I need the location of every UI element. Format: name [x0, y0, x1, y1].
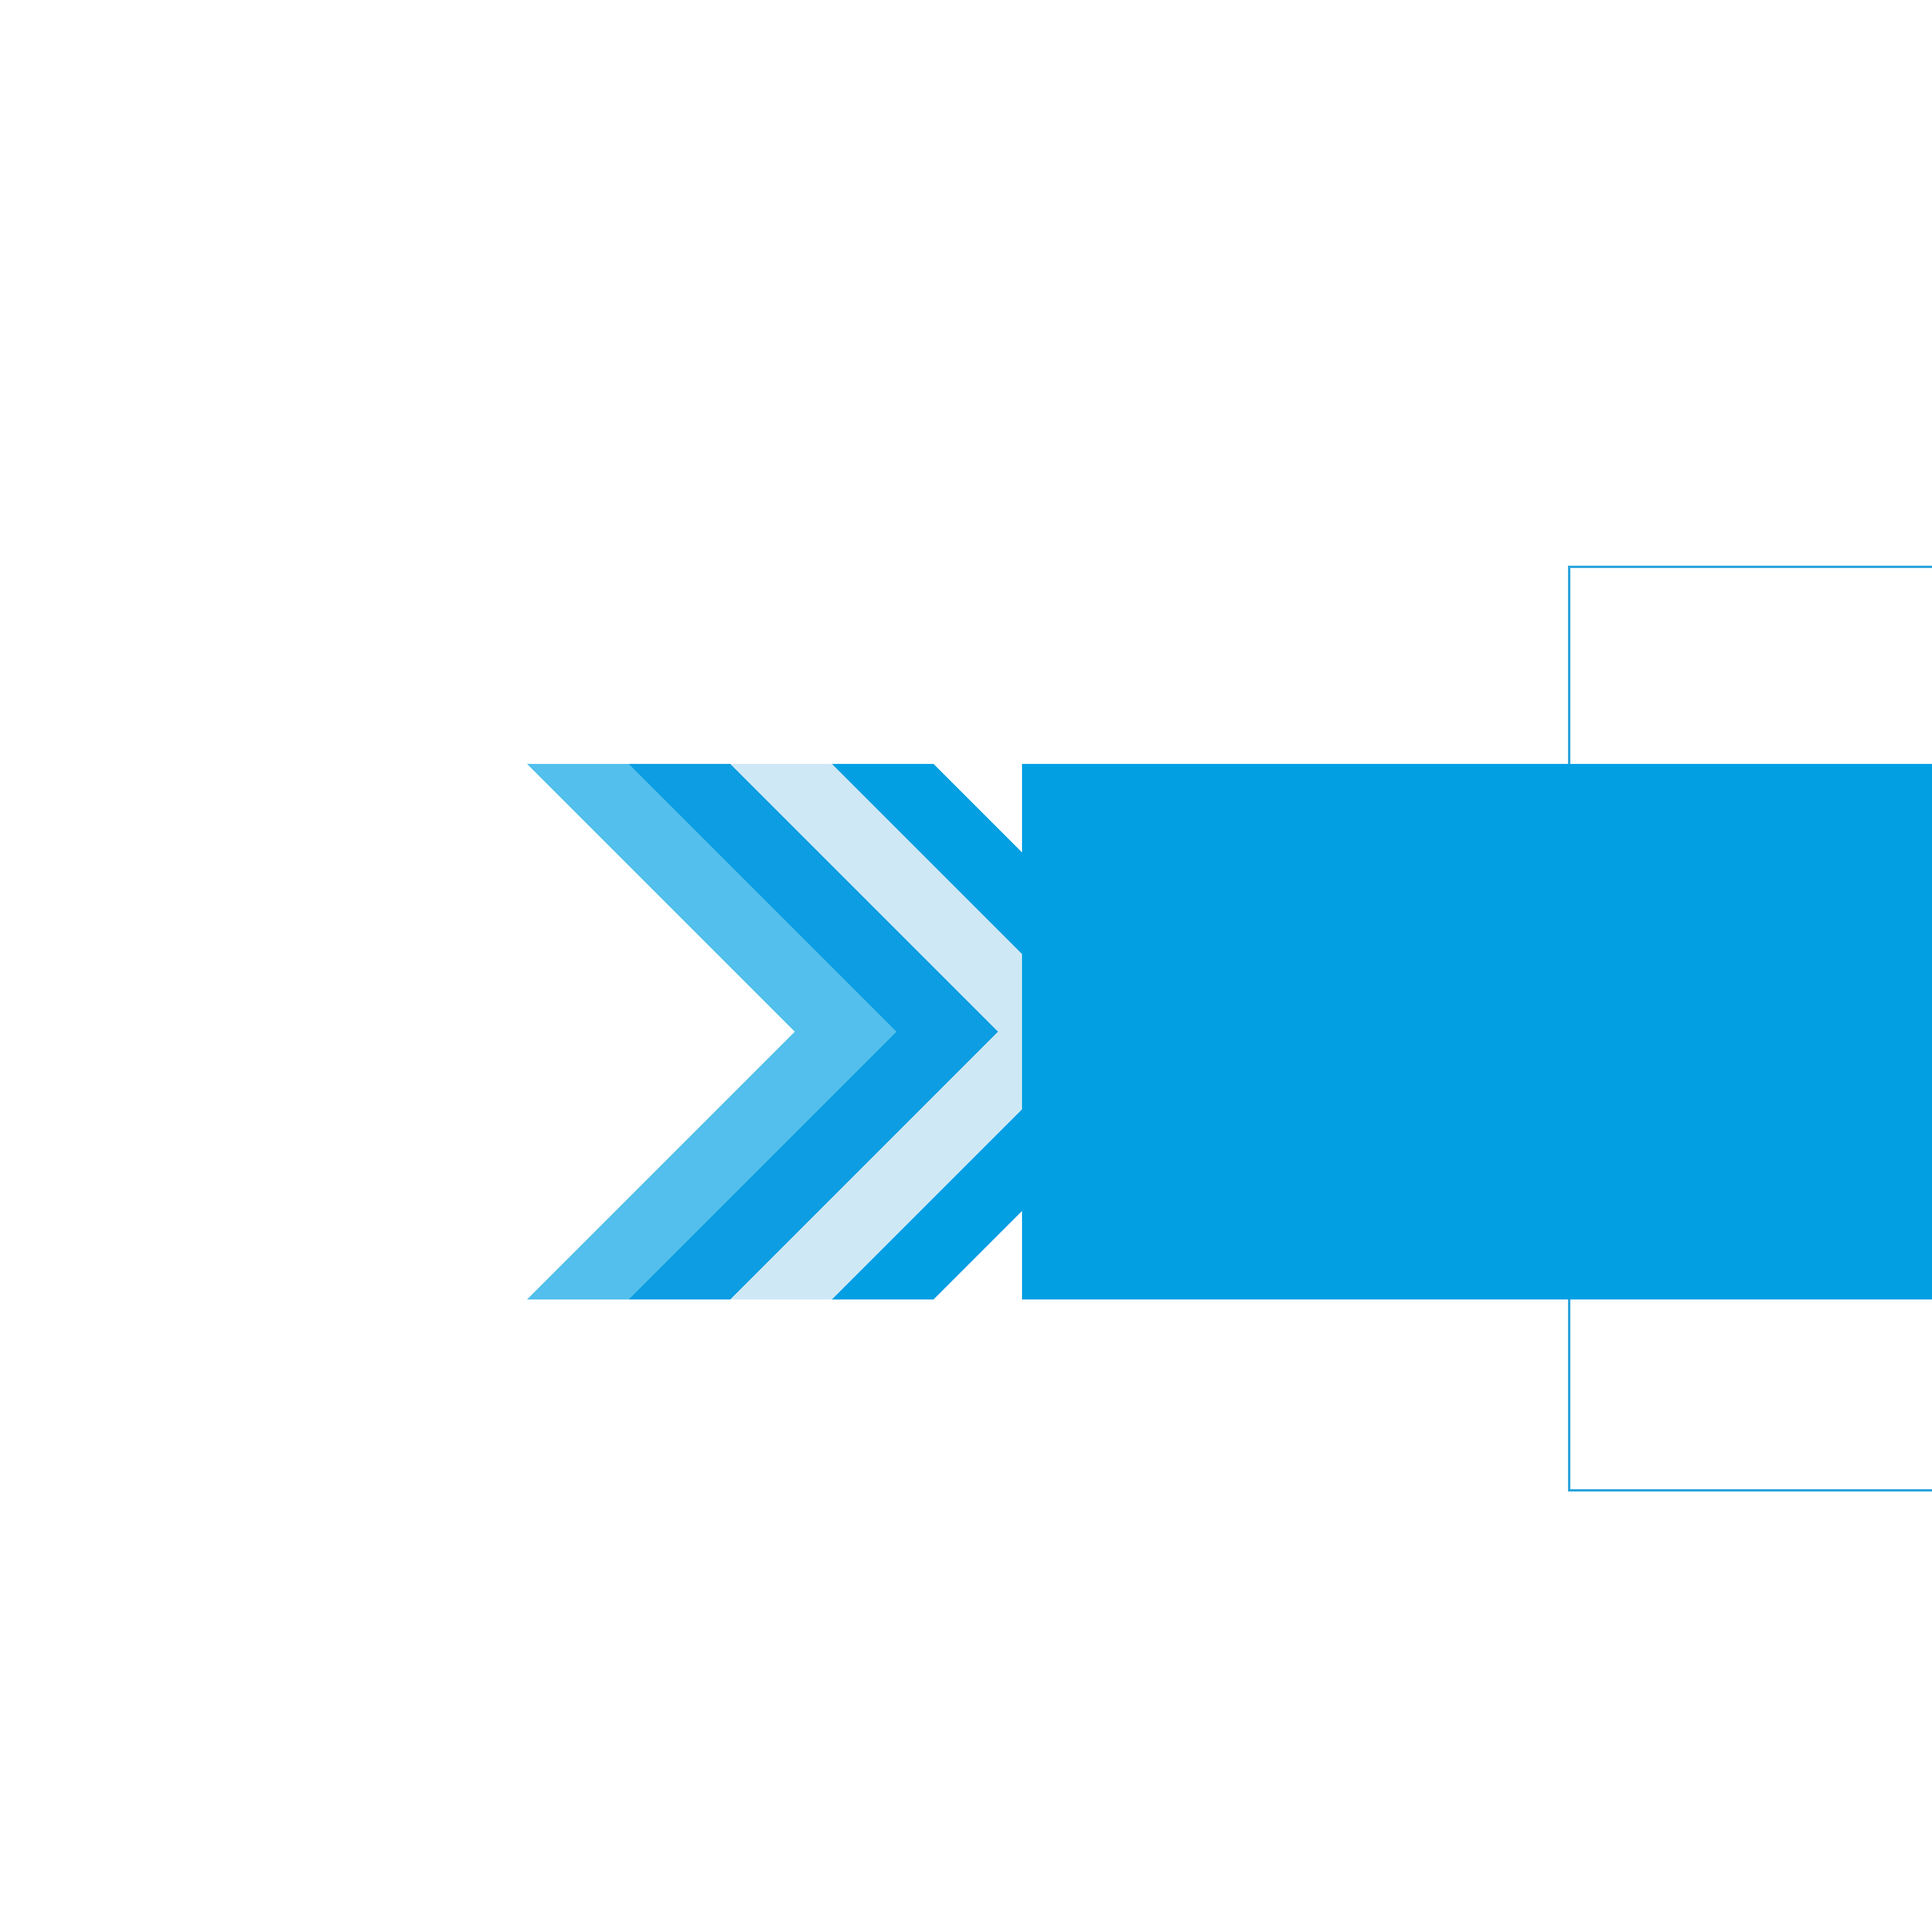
title-block: 文化溯源 Cultural History: [1584, 920, 1932, 1072]
page-title-english: Cultural History: [1584, 1004, 1932, 1072]
slide-canvas: 文化溯源 Cultural History China Construction…: [0, 0, 1932, 1932]
chevron-decoration: [527, 764, 1068, 1299]
page-title-chinese: 文化溯源: [1584, 920, 1932, 995]
